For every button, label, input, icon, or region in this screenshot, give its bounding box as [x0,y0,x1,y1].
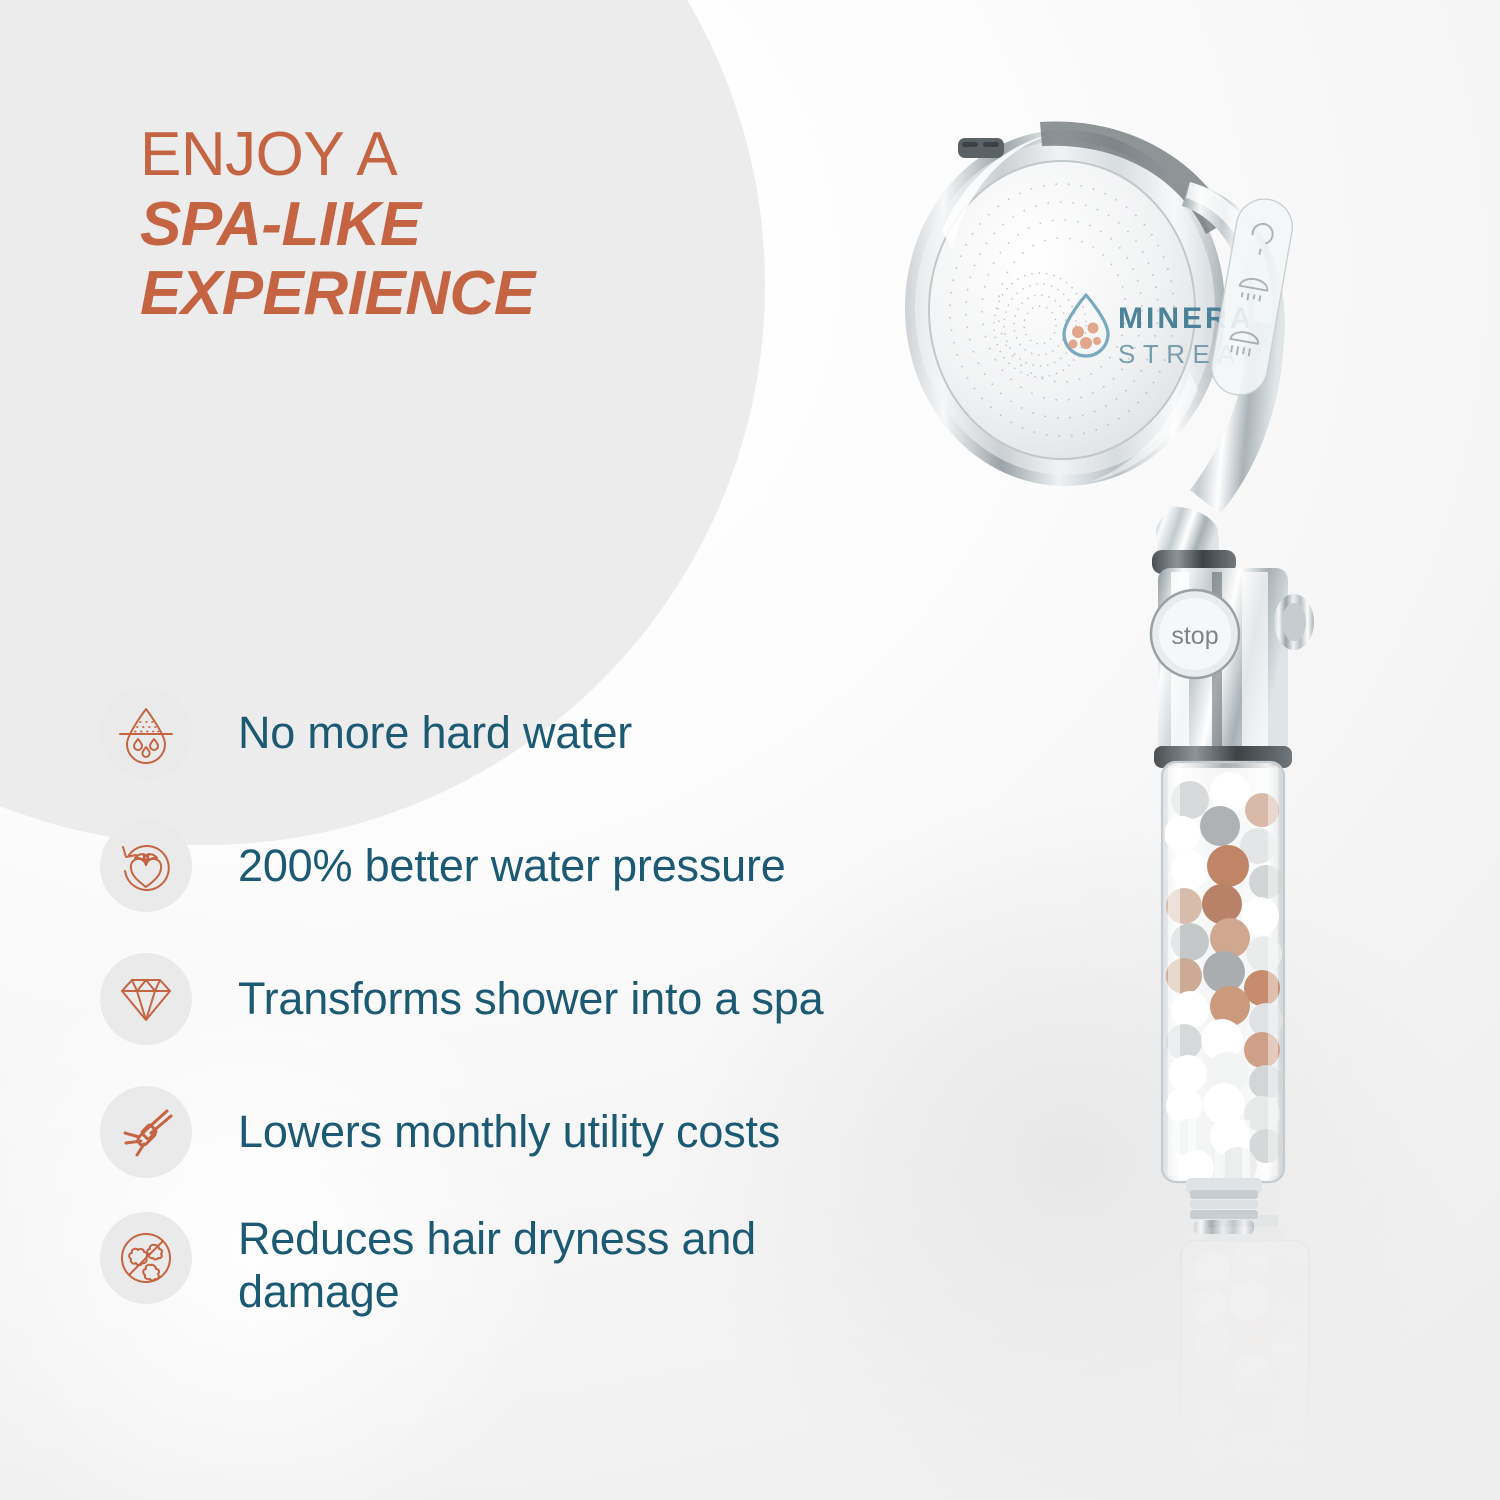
headline-line-1: ENJOY A [140,122,760,188]
headline-line-2: SPA-LIKE [140,192,760,258]
feature-list: No more hard water 200% better water pre… [100,666,1100,1348]
headline: ENJOY A SPA-LIKE EXPERIENCE [140,122,760,327]
feature-label: 200% better water pressure [238,839,786,892]
feature-item-hair-damage: Reduces hair dryness and damage [100,1198,1100,1348]
feature-label: Reduces hair dryness and damage [238,1212,756,1318]
no-split-ends-icon-badge [100,1212,192,1304]
swivel-joint [1152,506,1236,574]
feature-item-no-hard-water: No more hard water [100,666,1100,799]
water-droplet-filter-icon-badge [100,687,192,779]
feature-item-spa: Transforms shower into a spa [100,932,1100,1065]
no-split-ends-icon [115,1227,177,1289]
flow-knob [1274,594,1314,650]
feature-item-utility-costs: Lowers monthly utility costs [100,1065,1100,1198]
stop-button: stop [1151,590,1239,678]
handle-chrome-barrel: stop [1151,568,1314,768]
heart-lotus-refresh-icon [115,835,177,897]
mineral-filter-chamber [1162,762,1284,1186]
poster-canvas: ENJOY A SPA-LIKE EXPERIENCE [0,0,1500,1500]
hose-connector [1186,1178,1262,1234]
feature-label: Transforms shower into a spa [238,972,823,1025]
feature-label: Lowers monthly utility costs [238,1105,780,1158]
faucet-savings-icon [115,1101,177,1163]
water-droplet-filter-icon [115,702,177,764]
faucet-savings-icon-badge [100,1086,192,1178]
stop-button-label: stop [1171,622,1218,650]
heart-lotus-refresh-icon-badge [100,820,192,912]
headline-line-3: EXPERIENCE [140,261,760,327]
feature-item-water-pressure: 200% better water pressure [100,799,1100,932]
mineral-beads [1164,772,1283,1186]
diamond-icon [115,968,177,1030]
diamond-icon-badge [100,953,192,1045]
feature-label: No more hard water [238,706,632,759]
